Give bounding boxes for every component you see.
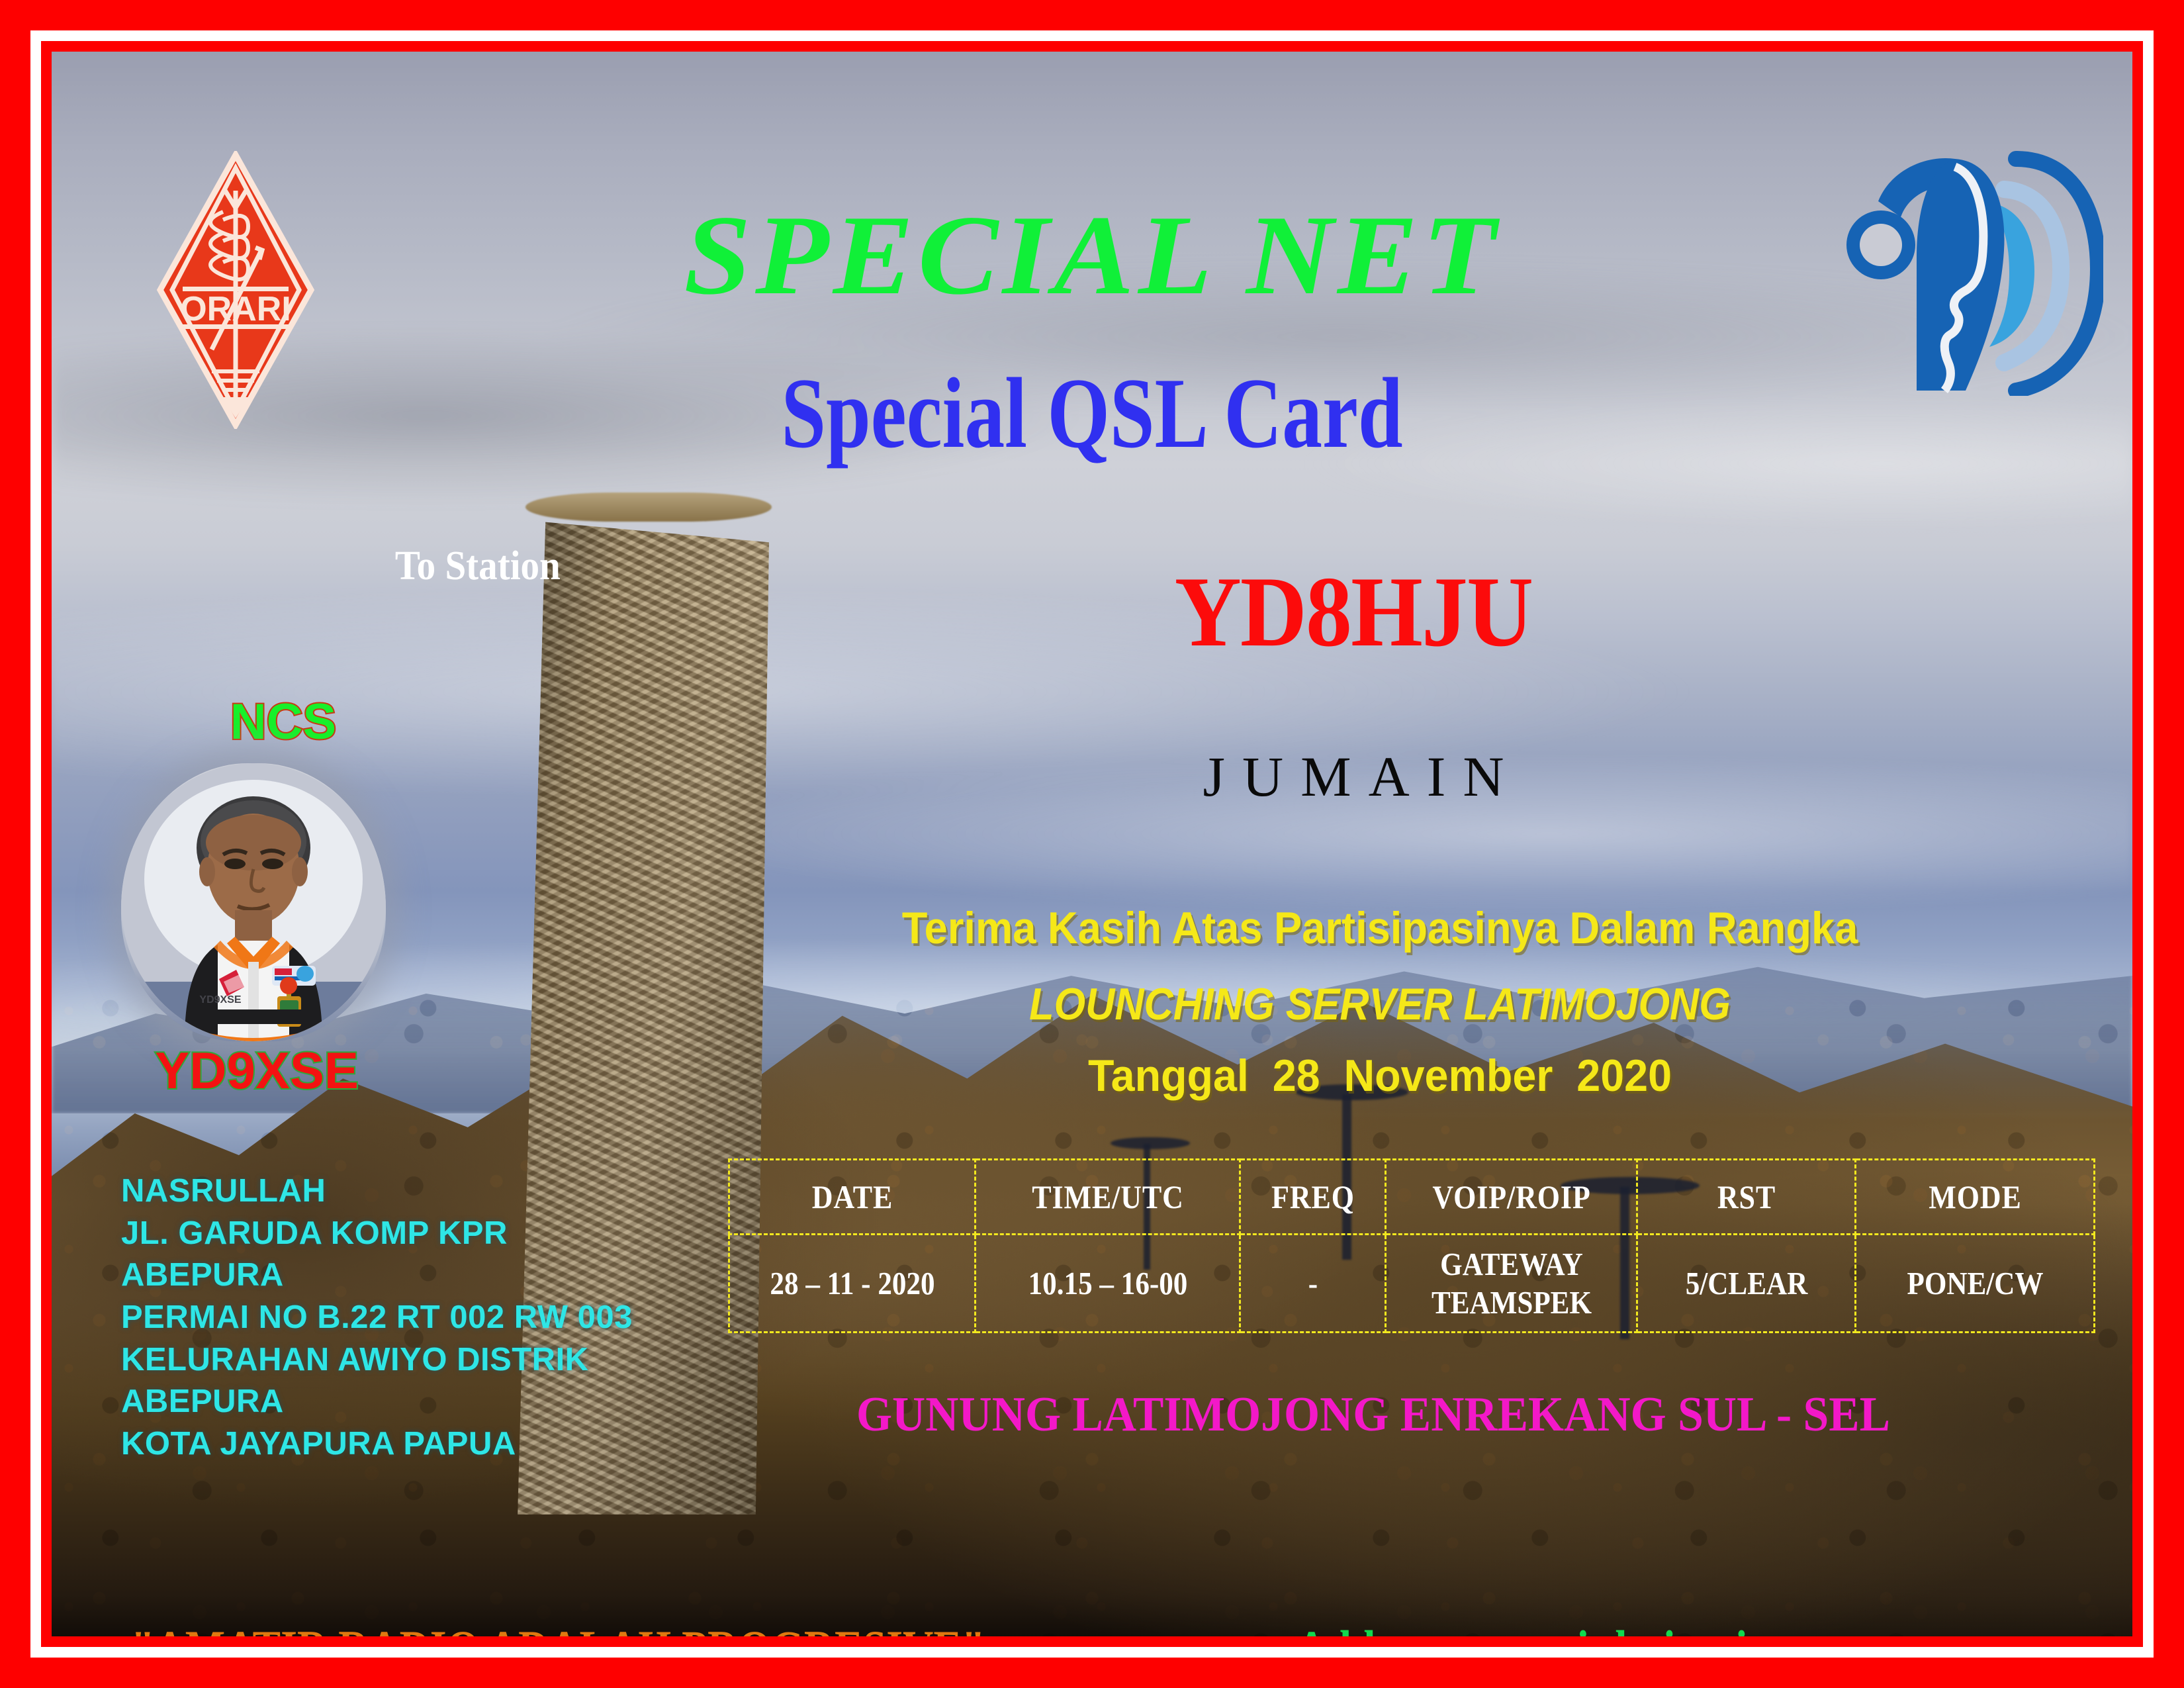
footer-web-address: Address : amatir.latimojong.com (1296, 1623, 1903, 1636)
address-line: JL. GARUDA KOMP KPR (121, 1213, 633, 1255)
address-block: NASRULLAH JL. GARUDA KOMP KPR ABEPURA PE… (121, 1170, 633, 1466)
address-line: ABEPURA (121, 1254, 633, 1297)
thanks-message: Terima Kasih Atas Partisipasinya Dalam R… (772, 906, 1987, 951)
column-header-rst: RST (1650, 1160, 1842, 1235)
address-line: ABEPURA (121, 1381, 633, 1423)
cell-time: 10.15 – 16-00 (991, 1235, 1224, 1333)
event-date-line: Tanggal 28 November 2020 (759, 1053, 2000, 1098)
column-header-freq: FREQ (1249, 1160, 1377, 1235)
ncs-callsign: YD9XSE (118, 1045, 396, 1096)
page-title: SPECIAL NET (52, 199, 2132, 312)
cell-freq: - (1249, 1235, 1377, 1333)
ncs-operator-photo: YD9XSE (121, 763, 386, 1041)
cell-voip-line2: TEAMSPEK (1402, 1284, 1621, 1322)
address-line: KELURAHAN AWIYO DISTRIK (121, 1339, 633, 1382)
cell-date: 28 – 11 - 2020 (744, 1235, 960, 1333)
address-line: KOTA JAYAPURA PAPUA (121, 1423, 633, 1466)
station-callsign: YD8HJU (771, 561, 1936, 662)
operator-name: JUMAIN (720, 748, 1987, 805)
portrait-illustration: YD9XSE (121, 763, 386, 1041)
card-background-photo: ORARI SPECIAL NET Special QSL Card To St… (52, 52, 2132, 1636)
table-row: 28 – 11 - 2020 10.15 – 16-00 - GATEWAY T… (729, 1235, 2095, 1333)
qso-log-table: DATE TIME/UTC FREQ VOIP/ROIP RST MODE 28… (728, 1158, 2095, 1333)
event-title: LOUNCHING SERVER LATIMOJONG (792, 982, 1968, 1027)
cell-mode: PONE/CW (1870, 1235, 2080, 1333)
location-label: GUNUNG LATIMOJONG ENREKANG SUL - SEL (753, 1390, 1993, 1439)
cell-voip-line1: GATEWAY (1402, 1245, 1621, 1284)
column-header-time: TIME/UTC (991, 1160, 1224, 1235)
ncs-label: NCS (184, 697, 383, 747)
qsl-card: ORARI SPECIAL NET Special QSL Card To St… (0, 0, 2184, 1688)
svg-text:YD9XSE: YD9XSE (199, 994, 241, 1006)
table-header-row: DATE TIME/UTC FREQ VOIP/ROIP RST MODE (729, 1160, 2095, 1235)
cell-voip: GATEWAY TEAMSPEK (1400, 1235, 1621, 1333)
column-header-mode: MODE (1870, 1160, 2080, 1235)
address-line: NASRULLAH (121, 1170, 633, 1213)
column-header-date: DATE (744, 1160, 960, 1235)
column-header-voip: VOIP/ROIP (1400, 1160, 1621, 1235)
footer-slogan: "AMATIR RADIO ADALAH PROGRESIVE" (131, 1623, 985, 1636)
cell-rst: 5/CLEAR (1650, 1235, 1842, 1333)
page-subtitle: Special QSL Card (259, 363, 1924, 463)
address-line: PERMAI NO B.22 RT 002 RW 003 (121, 1297, 633, 1339)
to-station-label: To Station (395, 543, 561, 590)
